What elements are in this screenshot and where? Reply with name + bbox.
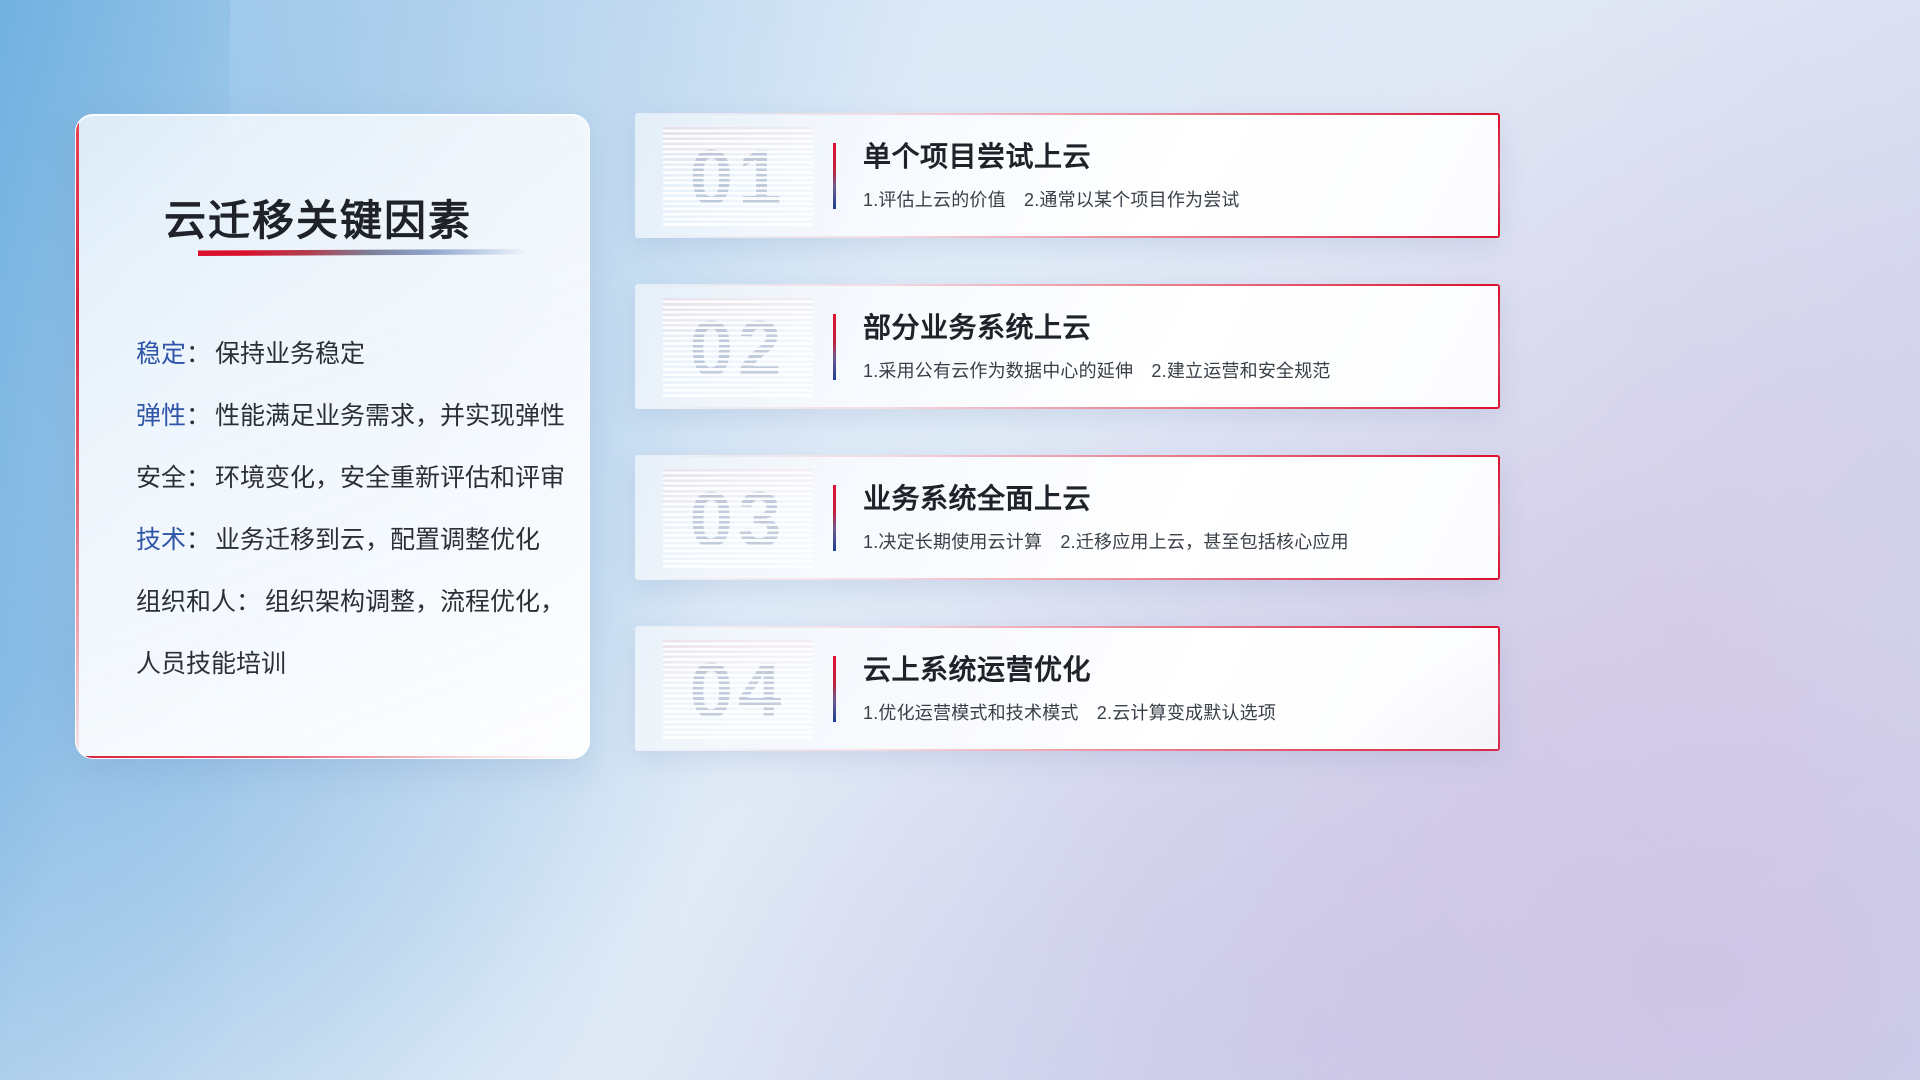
- step-divider-bar: [833, 143, 836, 209]
- step-number-text: 04: [663, 640, 813, 740]
- step-number-text: 01: [663, 127, 813, 227]
- factor-row: 安全：环境变化，安全重新评估和评审: [136, 447, 559, 509]
- step-title: 云上系统运营优化: [863, 650, 1472, 690]
- factor-description: 业务迁移到云，配置调整优化: [215, 509, 540, 571]
- step-card[interactable]: 04云上系统运营优化1.优化运营模式和技术模式 2.云计算变成默认选项: [635, 626, 1500, 751]
- factor-label: 弹性: [136, 385, 186, 447]
- step-description: 1.评估上云的价值 2.通常以某个项目作为尝试: [863, 187, 1472, 213]
- factor-row: 技术：业务迁移到云，配置调整优化: [136, 509, 559, 571]
- factor-label: 安全: [136, 447, 186, 509]
- factor-description: 环境变化，安全重新评估和评审: [215, 447, 565, 509]
- step-title: 部分业务系统上云: [863, 308, 1472, 348]
- step-body: 云上系统运营优化1.优化运营模式和技术模式 2.云计算变成默认选项: [863, 650, 1472, 726]
- step-number-text: 02: [663, 298, 813, 398]
- step-body: 业务系统全面上云1.决定长期使用云计算 2.迁移应用上云，甚至包括核心应用: [863, 479, 1472, 555]
- migration-steps-list: 01单个项目尝试上云1.评估上云的价值 2.通常以某个项目作为尝试02部分业务系…: [635, 113, 1500, 797]
- step-number-badge: 03: [663, 469, 813, 569]
- factor-separator: ：: [186, 509, 211, 571]
- factor-list: 稳定：保持业务稳定弹性：性能满足业务需求，并实现弹性安全：环境变化，安全重新评估…: [136, 323, 559, 695]
- factor-description: 保持业务稳定: [215, 323, 365, 385]
- step-number-badge: 02: [663, 298, 813, 398]
- factor-separator: ：: [186, 323, 211, 385]
- title-underline-rule: [198, 249, 528, 256]
- factor-description: 性能满足业务需求，并实现弹性: [215, 385, 565, 447]
- step-divider-bar: [833, 314, 836, 380]
- step-divider-bar: [833, 485, 836, 551]
- step-card[interactable]: 01单个项目尝试上云1.评估上云的价值 2.通常以某个项目作为尝试: [635, 113, 1500, 238]
- step-number-text: 03: [663, 469, 813, 569]
- page-title: 云迁移关键因素: [164, 187, 472, 248]
- factor-separator: ：: [186, 447, 211, 509]
- factor-separator: ：: [186, 385, 211, 447]
- factor-description-continuation: 人员技能培训: [136, 633, 559, 695]
- step-number-badge: 04: [663, 640, 813, 740]
- card-right-accent-bar: [1498, 626, 1500, 751]
- step-description: 1.采用公有云作为数据中心的延伸 2.建立运营和安全规范: [863, 358, 1472, 384]
- factor-label: 技术: [136, 509, 186, 571]
- factor-row: 稳定：保持业务稳定: [136, 323, 559, 385]
- factor-label: 组织和人: [136, 571, 236, 633]
- factor-label: 稳定: [136, 323, 186, 385]
- factor-row: 弹性：性能满足业务需求，并实现弹性: [136, 385, 559, 447]
- step-title: 业务系统全面上云: [863, 479, 1472, 519]
- step-description: 1.决定长期使用云计算 2.迁移应用上云，甚至包括核心应用: [863, 529, 1472, 555]
- step-title: 单个项目尝试上云: [863, 137, 1472, 177]
- step-body: 部分业务系统上云1.采用公有云作为数据中心的延伸 2.建立运营和安全规范: [863, 308, 1472, 384]
- factor-separator: ：: [236, 571, 261, 633]
- factor-description: 组织架构调整，流程优化，: [265, 571, 565, 633]
- key-factors-panel: 云迁移关键因素 稳定：保持业务稳定弹性：性能满足业务需求，并实现弹性安全：环境变…: [75, 114, 590, 759]
- card-right-accent-bar: [1498, 113, 1500, 238]
- step-body: 单个项目尝试上云1.评估上云的价值 2.通常以某个项目作为尝试: [863, 137, 1472, 213]
- card-right-accent-bar: [1498, 284, 1500, 409]
- factor-row: 组织和人：组织架构调整，流程优化，: [136, 571, 559, 633]
- step-description: 1.优化运营模式和技术模式 2.云计算变成默认选项: [863, 700, 1472, 726]
- step-number-badge: 01: [663, 127, 813, 227]
- step-divider-bar: [833, 656, 836, 722]
- step-card[interactable]: 02部分业务系统上云1.采用公有云作为数据中心的延伸 2.建立运营和安全规范: [635, 284, 1500, 409]
- step-card[interactable]: 03业务系统全面上云1.决定长期使用云计算 2.迁移应用上云，甚至包括核心应用: [635, 455, 1500, 580]
- card-right-accent-bar: [1498, 455, 1500, 580]
